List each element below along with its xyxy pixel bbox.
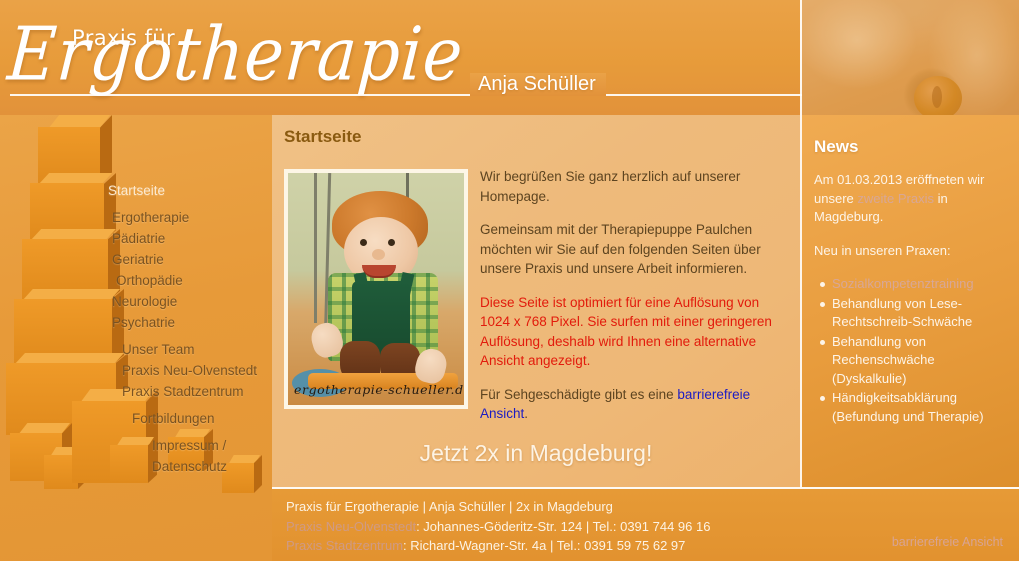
footer-line-2-rest: : Johannes-Göderitz-Str. 124 | Tel.: 039… xyxy=(416,519,710,534)
news-list-item: Behandlung von Lese-Rechtschreib-Schwäch… xyxy=(832,295,1006,332)
site-logo-wordmark[interactable]: Ergotherapie xyxy=(5,18,465,92)
puppet-eye-left xyxy=(360,239,367,246)
photo-watermark: ergotherapie-schueller.de xyxy=(294,382,464,397)
news-second-practice-link[interactable]: zweite Praxis xyxy=(857,191,934,206)
news-intro: Am 01.03.2013 eröffneten wir unsere zwei… xyxy=(814,171,1006,227)
puppet-eye-right xyxy=(388,239,395,246)
photo-inner-frame: ergotherapie-schueller.de xyxy=(288,173,464,405)
site-header: Praxis für Ergotherapie Anja Schüller xyxy=(0,0,1019,115)
news-left-divider xyxy=(800,115,802,487)
news-subheading: Neu in unseren Praxen: xyxy=(814,242,1006,261)
nav-item-geriatrie[interactable]: Geriatrie xyxy=(112,249,272,270)
footer-accessible-view-link[interactable]: barrierefreie Ansicht xyxy=(892,535,1003,549)
news-list-item: Händigkeitsabklärung (Befundung und Ther… xyxy=(832,389,1006,426)
page-title: Startseite xyxy=(284,127,361,147)
header-vertical-divider xyxy=(800,0,802,115)
nav-item-praxis-stadtzentrum[interactable]: Praxis Stadtzentrum xyxy=(122,381,272,402)
footer-line-1: Praxis für Ergotherapie | Anja Schüller … xyxy=(286,497,710,517)
swing-rope-left xyxy=(314,173,317,323)
news-list-item[interactable]: Sozialkompetenztraining xyxy=(832,275,1006,294)
news-panel: News Am 01.03.2013 eröffneten wir unsere… xyxy=(802,115,1019,487)
nav-item-unser-team[interactable]: Unser Team xyxy=(122,339,272,360)
therapy-puppet-photo: ergotherapie-schueller.de xyxy=(284,169,468,409)
news-list-item: Behandlung von Rechenschwäche (Dyskalkul… xyxy=(832,333,1006,389)
page-root: Praxis für Ergotherapie Anja Schüller xyxy=(0,0,1019,561)
footer-link-stadtzentrum[interactable]: Praxis Stadtzentrum xyxy=(286,538,403,553)
nav-item-ergotherapie[interactable]: Ergotherapie xyxy=(112,207,272,228)
intro-text-block: Wir begrüßen Sie ganz herzlich auf unser… xyxy=(480,167,780,438)
site-footer: Praxis für Ergotherapie | Anja Schüller … xyxy=(272,489,1019,561)
nav-item-praxis-neu-olvenstedt[interactable]: Praxis Neu-Olvenstedt xyxy=(122,360,272,381)
puppet-nose xyxy=(372,249,385,260)
footer-line-2: Praxis Neu-Olvenstedt: Johannes-Göderitz… xyxy=(286,517,710,537)
accessibility-note-prefix: Für Sehgeschädigte gibt es eine xyxy=(480,387,677,402)
nav-item-datenschutz[interactable]: Datenschutz xyxy=(152,456,272,477)
intro-paragraph-1: Wir begrüßen Sie ganz herzlich auf unser… xyxy=(480,167,780,206)
news-body: Am 01.03.2013 eröffneten wir unsere zwei… xyxy=(814,171,1006,427)
intro-paragraph-2: Gemeinsam mit der Therapiepuppe Paulchen… xyxy=(480,220,780,279)
nav-item-paediatrie[interactable]: Pädiatrie xyxy=(112,228,272,249)
header-owner-name: Anja Schüller xyxy=(470,73,606,96)
news-service-list: Sozialkompetenztraining Behandlung von L… xyxy=(814,275,1006,426)
hero-photo-tint-layer xyxy=(802,0,1019,115)
nav-item-fortbildungen[interactable]: Fortbildungen xyxy=(132,408,272,429)
tagline-magdeburg: Jetzt 2x in Magdeburg! xyxy=(272,440,800,467)
accessibility-note-suffix: . xyxy=(524,406,528,421)
accessibility-note: Für Sehgeschädigte gibt es eine barriere… xyxy=(480,385,780,424)
nav-item-psychatrie[interactable]: Psychatrie xyxy=(112,312,272,333)
hero-photo-ball xyxy=(914,76,962,115)
news-title: News xyxy=(814,137,858,157)
main-content-panel: Startseite xyxy=(272,115,800,487)
hero-photo-hands-with-ball xyxy=(802,0,1019,115)
nav-item-orthopaedie[interactable]: Orthopädie xyxy=(116,270,272,291)
footer-address-block: Praxis für Ergotherapie | Anja Schüller … xyxy=(286,497,710,556)
nav-item-startseite[interactable]: Startseite xyxy=(108,180,272,201)
resolution-warning: Diese Seite ist optimiert für eine Auflö… xyxy=(480,293,780,371)
footer-link-neu-olvenstedt[interactable]: Praxis Neu-Olvenstedt xyxy=(286,519,416,534)
footer-line-3: Praxis Stadtzentrum: Richard-Wagner-Str.… xyxy=(286,536,710,556)
footer-line-3-rest: : Richard-Wagner-Str. 4a | Tel.: 0391 59… xyxy=(403,538,685,553)
nav-item-neurologie[interactable]: Neurologie xyxy=(112,291,272,312)
main-navigation: Startseite Ergotherapie Pädiatrie Geriat… xyxy=(0,115,272,477)
nav-item-impressum[interactable]: Impressum / xyxy=(152,435,272,456)
